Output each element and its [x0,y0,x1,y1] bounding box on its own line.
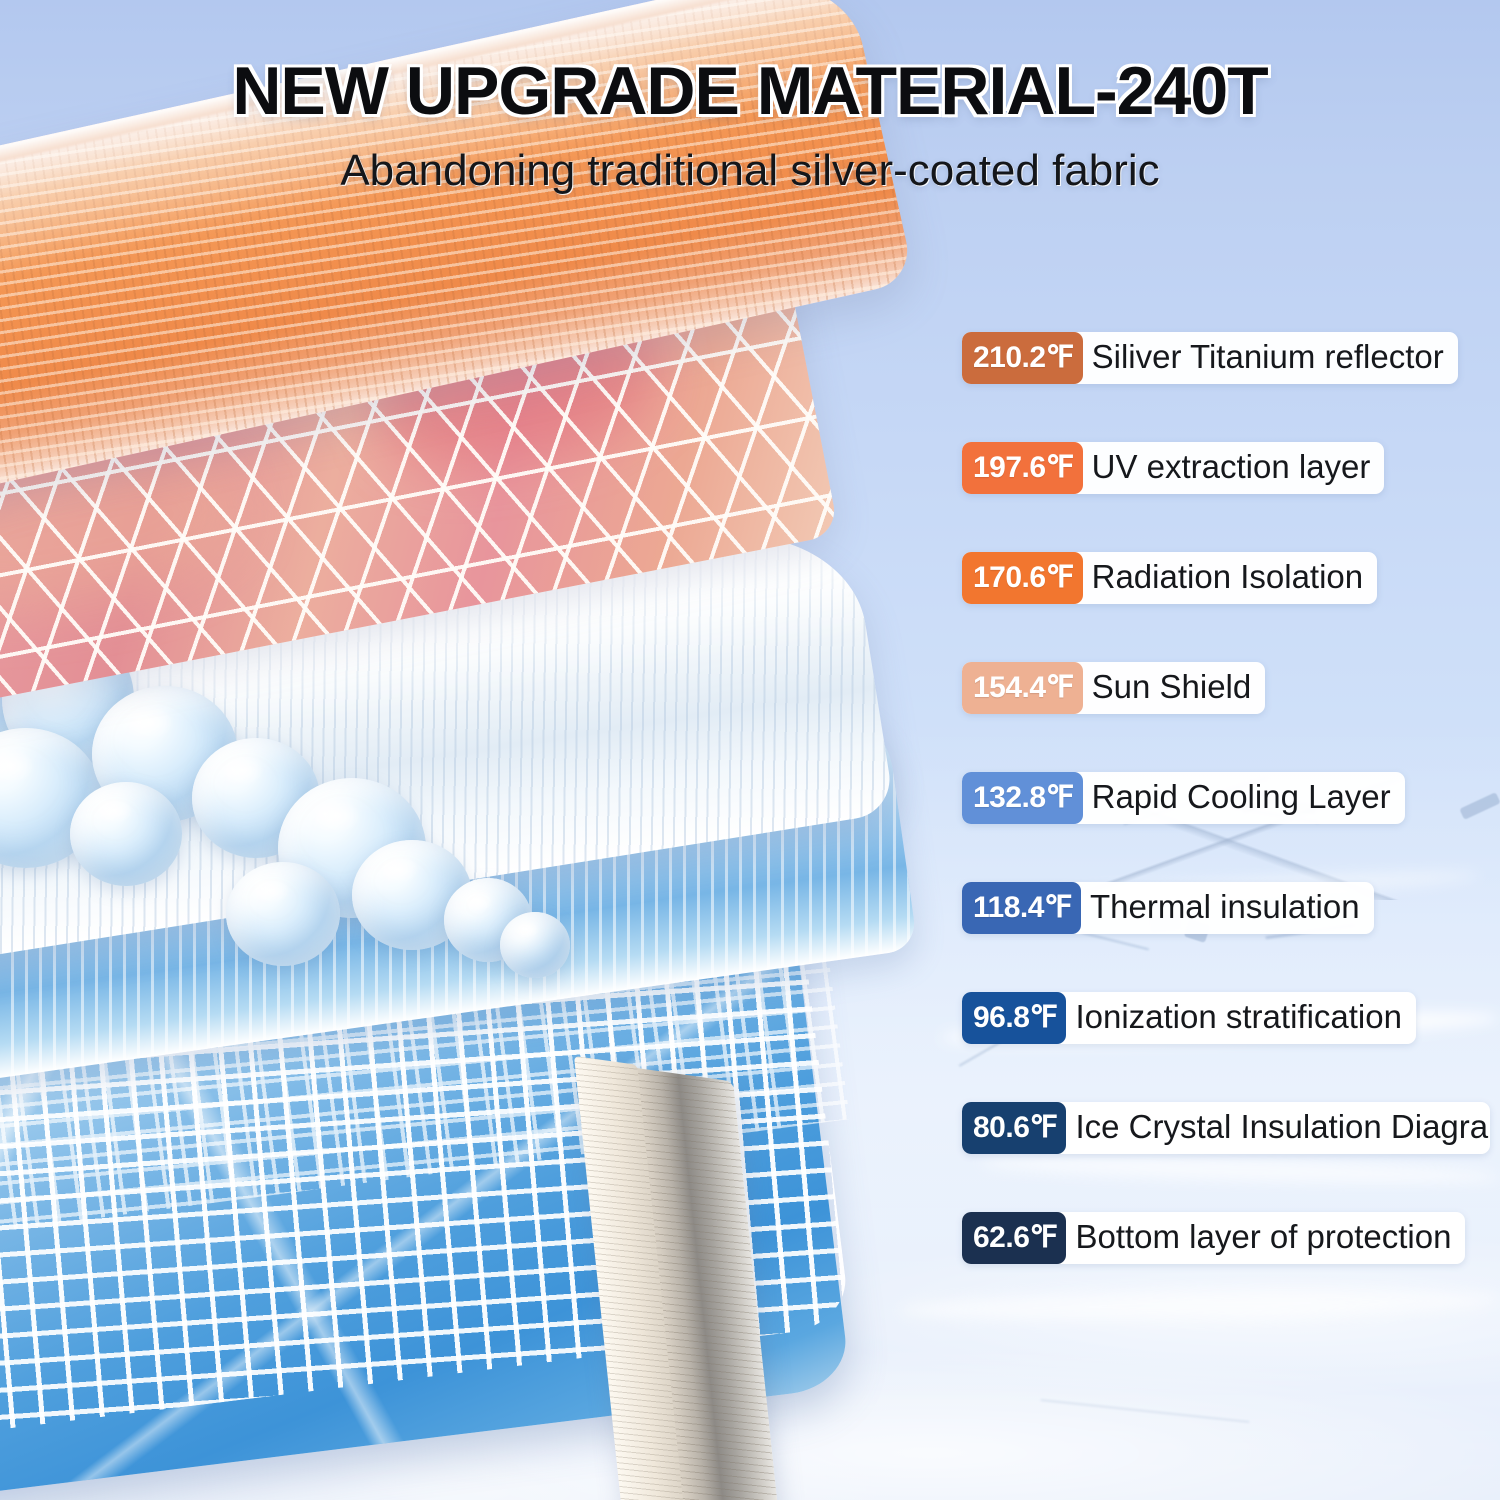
spec-row: 132.8℉Rapid Cooling Layer [962,772,1405,824]
layer-name-label: Sun Shield [1083,662,1266,714]
layer-name-label: Siliver Titanium reflector [1083,332,1458,384]
fabric-cross-section-illustration [0,180,1040,1500]
layer-name-label: Rapid Cooling Layer [1083,772,1405,824]
infographic-poster: NEW UPGRADE MATERIAL-240T Abandoning tra… [0,0,1500,1500]
temperature-badge: 154.4℉ [962,662,1083,714]
glass-sphere [500,912,570,978]
glass-sphere [226,862,340,966]
spec-row: 210.2℉Siliver Titanium reflector [962,332,1458,384]
spec-row: 80.6℉Ice Crystal Insulation Diagram [962,1102,1490,1154]
page-title: NEW UPGRADE MATERIAL-240T [0,52,1500,130]
spec-row: 62.6℉Bottom layer of protection [962,1212,1465,1264]
layer-name-label: Bottom layer of protection [1066,1212,1465,1264]
glass-sphere [70,782,182,886]
spec-row: 118.4℉Thermal insulation [962,882,1374,934]
spec-row: 154.4℉Sun Shield [962,662,1265,714]
temperature-badge: 80.6℉ [962,1102,1066,1154]
temperature-badge: 170.6℉ [962,552,1083,604]
layer-name-label: Ionization stratification [1066,992,1416,1044]
temperature-badge: 96.8℉ [962,992,1066,1044]
temperature-badge: 118.4℉ [962,882,1081,934]
temperature-badge: 132.8℉ [962,772,1083,824]
spec-row: 197.6℉UV extraction layer [962,442,1384,494]
spec-row: 170.6℉Radiation Isolation [962,552,1377,604]
layer-name-label: Radiation Isolation [1083,552,1378,604]
temperature-badge: 62.6℉ [962,1212,1066,1264]
temperature-badge: 197.6℉ [962,442,1083,494]
layer-spec-list: 210.2℉Siliver Titanium reflector197.6℉UV… [962,332,1492,1322]
layer-name-label: Ice Crystal Insulation Diagram [1066,1102,1490,1154]
layer-name-label: UV extraction layer [1083,442,1385,494]
spec-row: 96.8℉Ionization stratification [962,992,1416,1044]
temperature-badge: 210.2℉ [962,332,1083,384]
layer-name-label: Thermal insulation [1081,882,1374,934]
page-subtitle: Abandoning traditional silver-coated fab… [0,146,1500,196]
